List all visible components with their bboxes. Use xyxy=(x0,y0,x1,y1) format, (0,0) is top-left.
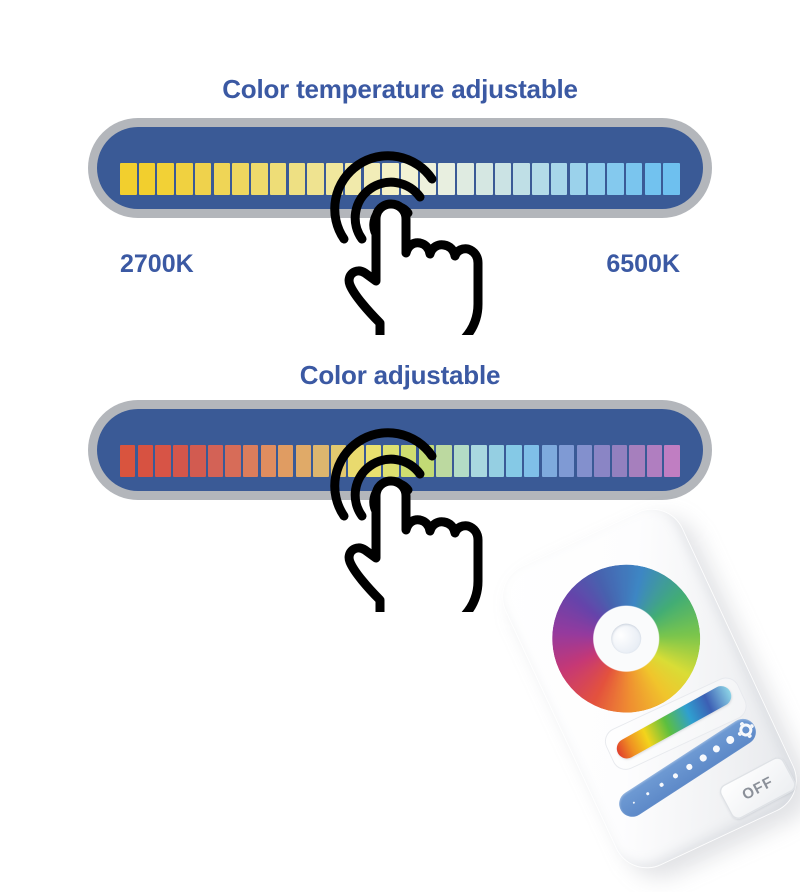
color-segment-15[interactable] xyxy=(383,445,398,477)
ct-segment-21[interactable] xyxy=(513,163,530,195)
color-segments[interactable] xyxy=(120,445,680,477)
ct-segment-27[interactable] xyxy=(626,163,643,195)
ct-segment-29[interactable] xyxy=(663,163,680,195)
color-segment-17[interactable] xyxy=(419,445,434,477)
color-segment-27[interactable] xyxy=(594,445,609,477)
ct-segment-5[interactable] xyxy=(214,163,231,195)
ct-segment-14[interactable] xyxy=(382,163,399,195)
color-temperature-min-label: 2700K xyxy=(120,250,194,279)
color-segment-21[interactable] xyxy=(489,445,504,477)
color-segment-1[interactable] xyxy=(138,445,153,477)
brightness-step-dot-5[interactable] xyxy=(698,753,707,762)
color-segment-11[interactable] xyxy=(313,445,328,477)
brightness-step-dot-6[interactable] xyxy=(712,744,722,754)
color-segment-23[interactable] xyxy=(524,445,539,477)
ct-segment-10[interactable] xyxy=(307,163,324,195)
ct-segment-11[interactable] xyxy=(326,163,343,195)
color-segment-7[interactable] xyxy=(243,445,258,477)
color-segment-20[interactable] xyxy=(471,445,486,477)
brightness-step-dot-1[interactable] xyxy=(646,792,650,796)
ct-segment-26[interactable] xyxy=(607,163,624,195)
ct-segment-19[interactable] xyxy=(476,163,493,195)
ct-segment-8[interactable] xyxy=(270,163,287,195)
ct-segment-22[interactable] xyxy=(532,163,549,195)
ct-segment-4[interactable] xyxy=(195,163,212,195)
color-segment-30[interactable] xyxy=(647,445,662,477)
color-segment-16[interactable] xyxy=(401,445,416,477)
color-segment-8[interactable] xyxy=(261,445,276,477)
color-heading: Color adjustable xyxy=(0,360,800,391)
ct-segment-28[interactable] xyxy=(645,163,662,195)
ct-segment-16[interactable] xyxy=(420,163,437,195)
color-segment-29[interactable] xyxy=(629,445,644,477)
color-segment-22[interactable] xyxy=(506,445,521,477)
brightness-step-dot-0[interactable] xyxy=(632,801,635,804)
color-segment-31[interactable] xyxy=(664,445,679,477)
ct-segment-15[interactable] xyxy=(401,163,418,195)
color-segment-25[interactable] xyxy=(559,445,574,477)
brightness-step-dot-4[interactable] xyxy=(685,763,693,771)
color-segment-6[interactable] xyxy=(225,445,240,477)
ct-segment-13[interactable] xyxy=(364,163,381,195)
color-segment-13[interactable] xyxy=(348,445,363,477)
brightness-step-dot-2[interactable] xyxy=(659,782,664,787)
color-segment-14[interactable] xyxy=(366,445,381,477)
color-slider[interactable] xyxy=(88,400,712,500)
ct-segment-6[interactable] xyxy=(232,163,249,195)
color-segment-18[interactable] xyxy=(436,445,451,477)
brightness-step-dot-3[interactable] xyxy=(672,773,678,779)
ct-segment-18[interactable] xyxy=(457,163,474,195)
color-temperature-slider[interactable] xyxy=(88,118,712,218)
color-segment-26[interactable] xyxy=(577,445,592,477)
color-segment-4[interactable] xyxy=(190,445,205,477)
color-segment-28[interactable] xyxy=(612,445,627,477)
brightness-sun-icon xyxy=(737,721,755,739)
ct-segment-12[interactable] xyxy=(345,163,362,195)
ct-segment-25[interactable] xyxy=(588,163,605,195)
ct-segment-17[interactable] xyxy=(438,163,455,195)
color-segment-5[interactable] xyxy=(208,445,223,477)
color-segment-10[interactable] xyxy=(296,445,311,477)
color-segment-3[interactable] xyxy=(173,445,188,477)
ct-segment-1[interactable] xyxy=(139,163,156,195)
ct-segment-23[interactable] xyxy=(551,163,568,195)
ct-segment-0[interactable] xyxy=(120,163,137,195)
color-segment-12[interactable] xyxy=(331,445,346,477)
color-temperature-segments[interactable] xyxy=(120,163,680,195)
ct-segment-7[interactable] xyxy=(251,163,268,195)
illustration-canvas: Color temperature adjustable 2700K 6500K… xyxy=(0,0,800,800)
ct-segment-24[interactable] xyxy=(570,163,587,195)
ct-segment-9[interactable] xyxy=(289,163,306,195)
brightness-step-dot-7[interactable] xyxy=(725,734,736,745)
color-temperature-heading: Color temperature adjustable xyxy=(0,74,800,105)
color-segment-19[interactable] xyxy=(454,445,469,477)
color-segment-2[interactable] xyxy=(155,445,170,477)
ct-segment-2[interactable] xyxy=(157,163,174,195)
ct-segment-20[interactable] xyxy=(495,163,512,195)
rf-remote-control[interactable]: OFF xyxy=(491,454,800,853)
color-segment-24[interactable] xyxy=(542,445,557,477)
color-segment-9[interactable] xyxy=(278,445,293,477)
color-segment-0[interactable] xyxy=(120,445,135,477)
ct-segment-3[interactable] xyxy=(176,163,193,195)
color-temperature-max-label: 6500K xyxy=(606,250,680,279)
